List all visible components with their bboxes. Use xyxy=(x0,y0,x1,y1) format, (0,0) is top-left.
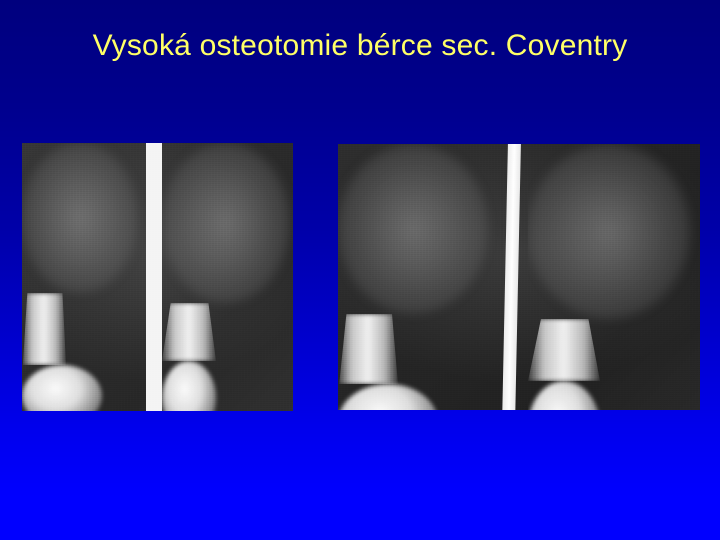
slide-title: Vysoká osteotomie bérce sec. Coventry xyxy=(0,26,720,66)
postoperative-radiograph-pair xyxy=(338,144,700,410)
film-grain-overlay xyxy=(338,144,700,410)
film-grain-overlay xyxy=(22,143,293,411)
presentation-slide: Vysoká osteotomie bérce sec. Coventry xyxy=(0,0,720,540)
preoperative-radiograph-pair xyxy=(22,143,293,411)
